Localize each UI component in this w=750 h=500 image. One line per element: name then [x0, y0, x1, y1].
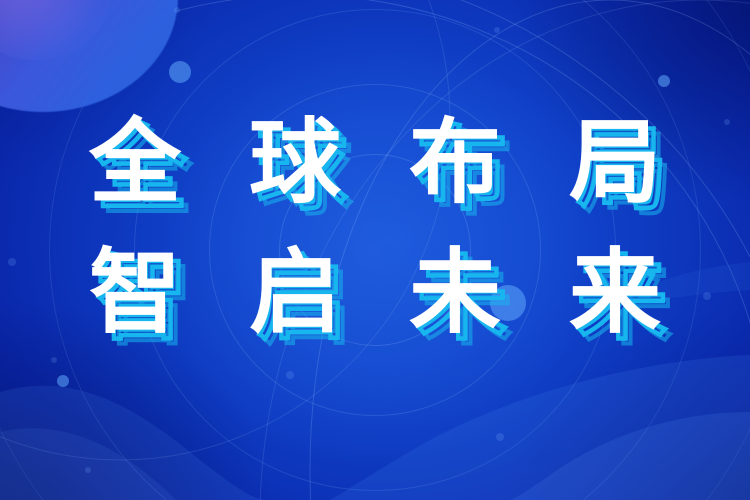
headline-line-1: 全 球 布 局 全 球 布 局 全 球 布 局: [0, 104, 750, 222]
headline-block: 全 球 布 局 全 球 布 局 全 球 布 局 智 启 未 来 智 启 未 来 …: [0, 104, 750, 352]
banner-canvas: 全 球 布 局 全 球 布 局 全 球 布 局 智 启 未 来 智 启 未 来 …: [0, 0, 750, 500]
headline-line-1-text: 全 球 布 局: [71, 104, 679, 222]
headline-line-2-text: 智 启 未 来: [71, 234, 679, 352]
headline-line-2: 智 启 未 来 智 启 未 来 智 启 未 来: [0, 234, 750, 352]
